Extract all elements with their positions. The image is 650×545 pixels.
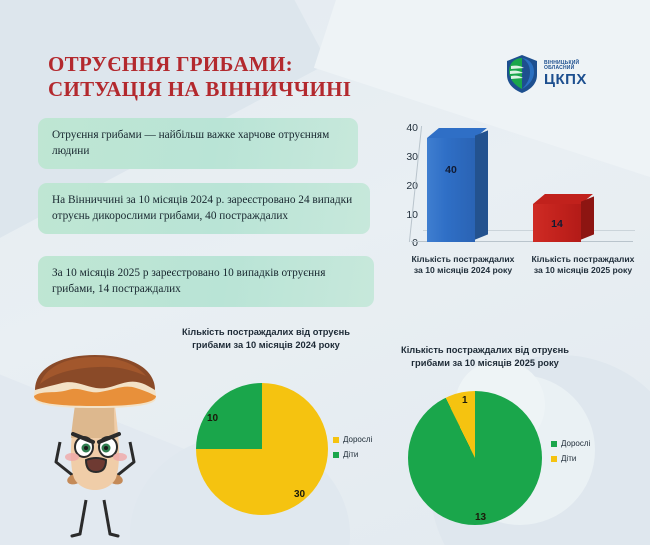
- pie-2025-legend: Дорослі Діти: [551, 436, 590, 466]
- info-box-2-text: На Вінниччині за 10 місяців 2024 р. заре…: [52, 194, 352, 222]
- legend-label-children-2024: Діти: [343, 447, 358, 462]
- bar-2025-side-face: [581, 196, 594, 239]
- page-title-line2: СИТУАЦІЯ НА ВІННИЧЧИНІ: [48, 77, 448, 102]
- y-tick-10: 10: [396, 209, 418, 221]
- bar-2025-value-label: 14: [533, 218, 581, 230]
- bar-category-2025: Кількість постраждалих за 10 місяців 202…: [523, 254, 643, 277]
- logo-name: ЦКПХ: [544, 72, 605, 87]
- logo-text: ВІННИЦЬКИЙ ОБЛАСНИЙ ЦКПХ: [544, 61, 605, 87]
- y-tick-30: 30: [396, 151, 418, 163]
- pie-2024-adults-value: 30: [294, 489, 305, 500]
- info-box-1: Отруєння грибами — найбільш важке харчов…: [38, 118, 358, 169]
- legend-label-children-2025: Діти: [561, 451, 576, 466]
- bar-2024: 40: [427, 138, 475, 242]
- mouth: [86, 458, 106, 472]
- pie-chart-2025-title: Кількість постраждалих від отруєнь гриба…: [396, 344, 574, 369]
- pie-2024-legend: Дорослі Діти: [333, 432, 372, 462]
- legend-item-children-2025: Діти: [551, 451, 590, 466]
- bar-chart: 40 30 20 10 0 40 14 Кількість постраждал…: [385, 120, 640, 305]
- pie-2024-children-value: 10: [207, 413, 218, 424]
- bar-2025: 14: [533, 204, 581, 242]
- mushroom-legs: [72, 500, 118, 536]
- page-title-line1: ОТРУЄННЯ ГРИБАМИ:: [48, 52, 293, 76]
- bar-chart-plot: 40 30 20 10 0 40 14: [385, 120, 640, 250]
- pie-2025-children-value: 1: [462, 395, 468, 406]
- legend-item-adults-2024: Дорослі: [333, 432, 372, 447]
- bar-chart-category-labels: Кількість постраждалих за 10 місяців 202…: [403, 254, 643, 277]
- legend-swatch-green-icon: [333, 452, 339, 458]
- info-box-3: За 10 місяців 2025 р зареєстровано 10 ви…: [38, 256, 374, 307]
- legend-item-children-2024: Діти: [333, 447, 372, 462]
- bar-category-2024: Кількість постраждалих за 10 місяців 202…: [403, 254, 523, 277]
- pie-chart-2024-title: Кількість постраждалих від отруєнь гриба…: [178, 326, 354, 351]
- info-box-1-text: Отруєння грибами — найбільш важке харчов…: [52, 129, 329, 157]
- organization-logo: ВІННИЦЬКИЙ ОБЛАСНИЙ ЦКПХ: [505, 50, 605, 98]
- y-tick-40: 40: [396, 122, 418, 134]
- pie-chart-2025: [408, 391, 542, 525]
- bar-2024-side-face: [475, 130, 488, 239]
- pie-chart-2024: [196, 383, 328, 515]
- shield-leaf-logo-icon: [505, 54, 539, 94]
- legend-swatch-green-icon: [551, 441, 557, 447]
- legend-label-adults-2024: Дорослі: [343, 432, 372, 447]
- legend-swatch-yellow-icon: [551, 456, 557, 462]
- logo-subtitle: ВІННИЦЬКИЙ ОБЛАСНИЙ: [544, 61, 605, 71]
- info-box-3-text: За 10 місяців 2025 р зареєстровано 10 ви…: [52, 267, 325, 295]
- info-box-2: На Вінниччині за 10 місяців 2024 р. заре…: [38, 183, 370, 234]
- legend-label-adults-2025: Дорослі: [561, 436, 590, 451]
- y-tick-0: 0: [396, 237, 418, 249]
- mushroom-cap: [34, 355, 156, 408]
- page-title: ОТРУЄННЯ ГРИБАМИ: СИТУАЦІЯ НА ВІННИЧЧИНІ: [48, 52, 448, 102]
- legend-item-adults-2025: Дорослі: [551, 436, 590, 451]
- bar-2024-front-face: [427, 138, 475, 242]
- angry-mushroom-mascot: [20, 350, 170, 540]
- pie-2025-adults-value: 13: [475, 512, 486, 523]
- bar-2024-value-label: 40: [427, 164, 475, 176]
- legend-swatch-yellow-icon: [333, 437, 339, 443]
